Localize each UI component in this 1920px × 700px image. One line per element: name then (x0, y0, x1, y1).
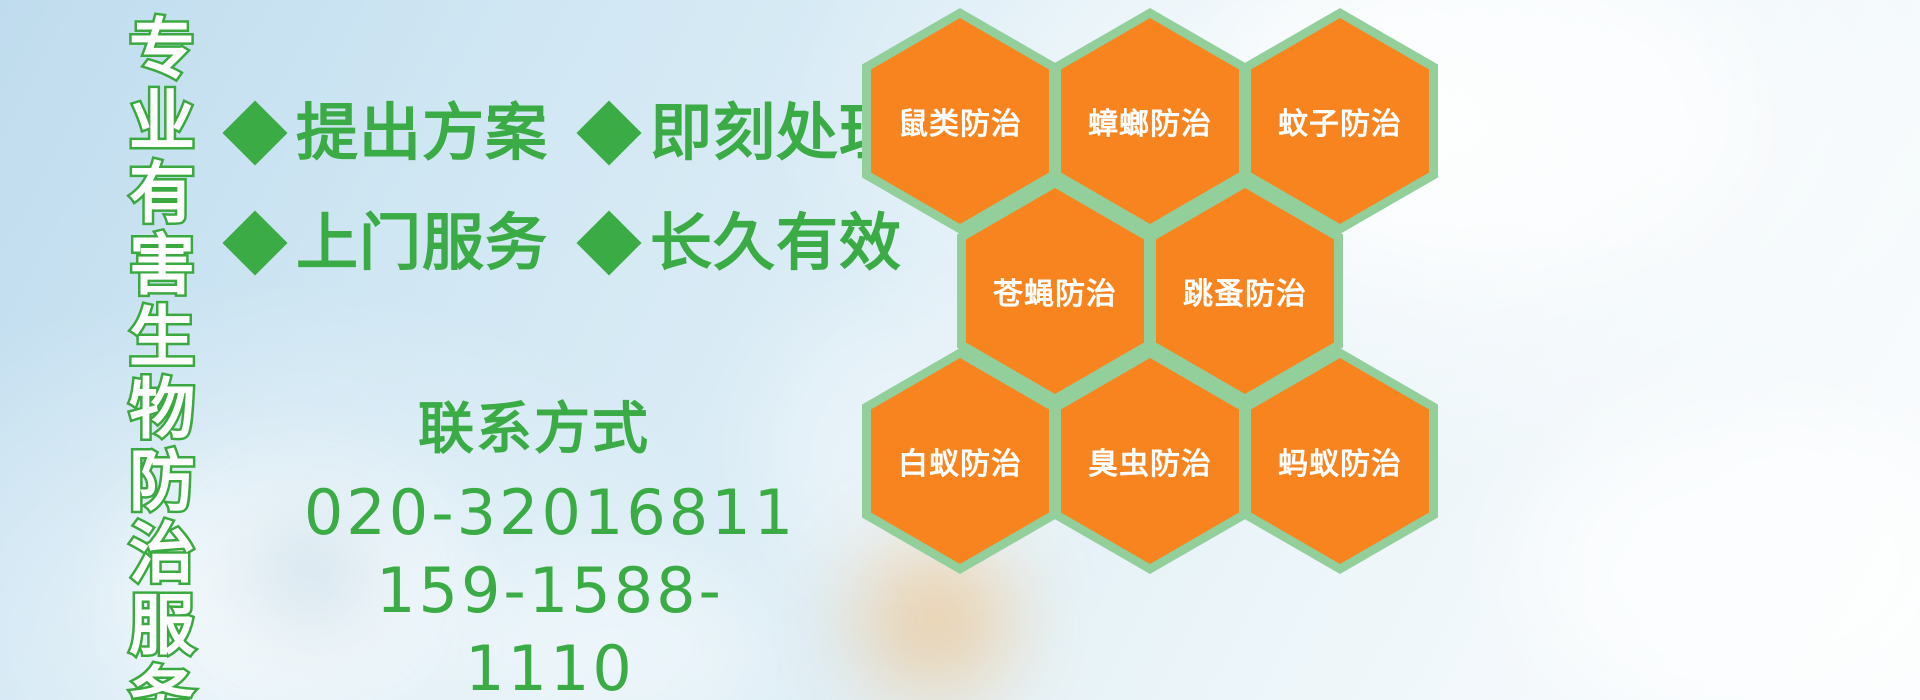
hex-label: 蟑螂防治 (1088, 99, 1212, 143)
hex-inner: 蟑螂防治 (1061, 18, 1239, 224)
contact-block: 联系方式 020-32016811 159-1588-1110 (300, 398, 800, 700)
feature-label: 提出方案 (296, 102, 548, 164)
contact-phone-mobile[interactable]: 159-1588-1110 (300, 552, 800, 700)
hex-inner: 蚊子防治 (1251, 18, 1429, 224)
hex-inner: 鼠类防治 (871, 18, 1049, 224)
background-bokeh-blob (860, 545, 1010, 695)
hex-label: 臭虫防治 (1088, 439, 1212, 483)
hex-label: 蚂蚁防治 (1278, 439, 1402, 483)
hex-inner: 跳蚤防治 (1156, 188, 1334, 394)
contact-title: 联系方式 (300, 398, 800, 462)
promo-banner: 专 业 有 害 生 物 防 治 服 务 提出方案 即刻处理 上门服务 (0, 0, 1920, 700)
hex-label: 跳蚤防治 (1183, 269, 1307, 313)
hex-inner: 臭虫防治 (1061, 358, 1239, 564)
feature-list: 提出方案 即刻处理 上门服务 长久有效 (232, 78, 902, 298)
hex-inner: 苍蝇防治 (966, 188, 1144, 394)
hex-inner: 蚂蚁防治 (1251, 358, 1429, 564)
feature-item: 长久有效 (586, 212, 902, 274)
vertical-headline-char: 物 (129, 374, 195, 446)
vertical-headline-char: 有 (129, 158, 195, 230)
hex-label: 白蚁防治 (898, 439, 1022, 483)
hex-inner: 白蚁防治 (871, 358, 1049, 564)
background-bokeh-blob (1520, 400, 1920, 700)
honeycomb-grid: 鼠类防治 蟑螂防治 蚊子防治 苍蝇防治 跳蚤防治 白蚁防治 (862, 0, 1462, 560)
vertical-headline-char: 治 (129, 518, 195, 590)
diamond-icon (222, 100, 287, 165)
feature-item: 提出方案 (232, 102, 548, 164)
vertical-headline-char: 防 (129, 446, 195, 518)
diamond-icon (576, 210, 641, 275)
vertical-headline-char: 生 (129, 302, 195, 374)
vertical-headline-char: 务 (129, 662, 195, 700)
hex-label: 鼠类防治 (898, 99, 1022, 143)
vertical-headline-char: 害 (129, 230, 195, 302)
vertical-headline-char: 服 (129, 590, 195, 662)
contact-phone-landline[interactable]: 020-32016811 (300, 474, 800, 552)
vertical-headline-char: 专 (129, 14, 195, 86)
diamond-icon (222, 210, 287, 275)
vertical-headline: 专 业 有 害 生 物 防 治 服 务 (108, 14, 216, 674)
feature-label: 上门服务 (296, 212, 548, 274)
vertical-headline-char: 业 (129, 86, 195, 158)
hex-label: 苍蝇防治 (993, 269, 1117, 313)
feature-item: 上门服务 (232, 212, 548, 274)
feature-item: 即刻处理 (586, 102, 902, 164)
feature-row: 上门服务 长久有效 (232, 188, 902, 298)
feature-row: 提出方案 即刻处理 (232, 78, 902, 188)
diamond-icon (576, 100, 641, 165)
hex-label: 蚊子防治 (1278, 99, 1402, 143)
